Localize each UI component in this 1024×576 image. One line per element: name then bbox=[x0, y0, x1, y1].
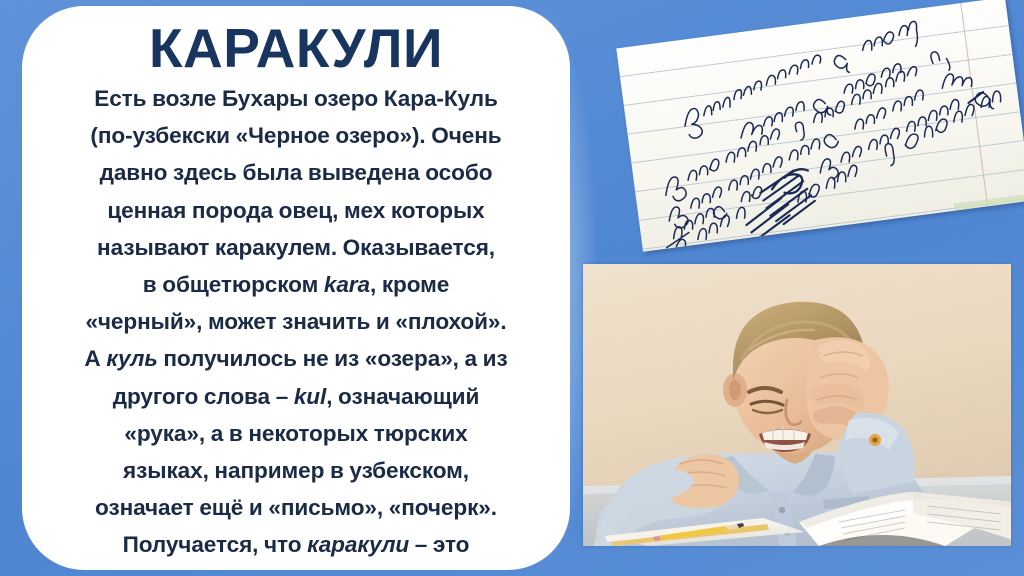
text-line: «черный», может значить и «плохой». bbox=[44, 303, 548, 340]
text-line: «рука», а в некоторых тюрских bbox=[44, 415, 548, 452]
article-text: Есть возле Бухары озеро Кара-Куль (по-уз… bbox=[36, 80, 556, 570]
italic-term-kul: kul bbox=[294, 384, 326, 409]
text-span: , кроме bbox=[370, 272, 449, 297]
text-span: языках, например в узбекском, bbox=[123, 458, 469, 483]
slide-root: КАРАКУЛИ Есть возле Бухары озеро Кара-Ку… bbox=[0, 0, 1024, 576]
text-span: означает ещё и «письмо», «почерк». bbox=[95, 495, 497, 520]
text-line: означает ещё и «письмо», «почерк». bbox=[44, 489, 548, 526]
note-handwriting-scrawl bbox=[616, 0, 1024, 252]
frustrated-boy-photo bbox=[583, 264, 1011, 546]
text-span: получилось не из «озера», а из bbox=[158, 346, 508, 371]
text-span: Получается, что bbox=[123, 532, 307, 557]
text-span: – это bbox=[409, 532, 469, 557]
text-span: называют каракулем. Оказывается, bbox=[97, 235, 495, 260]
text-span: , означающий bbox=[326, 384, 479, 409]
text-line: (по-узбекски «Черное озеро»). Очень bbox=[44, 117, 548, 154]
text-span: «рука», а в некоторых тюрских bbox=[124, 421, 467, 446]
text-line: ценная порода овец, мех которых bbox=[44, 192, 548, 229]
text-span: А bbox=[84, 346, 106, 371]
page-title: КАРАКУЛИ bbox=[36, 16, 556, 80]
italic-term-kara: kara bbox=[324, 272, 370, 297]
text-line: в общетюрском kara, кроме bbox=[44, 266, 548, 303]
text-span: Есть возле Бухары озеро Кара-Куль bbox=[94, 86, 497, 111]
italic-term-kul-ru: куль bbox=[106, 346, 157, 371]
text-line: другого слова – kul, означающий bbox=[44, 378, 548, 415]
text-line: «плохой почерк», «дурная рука». bbox=[44, 564, 548, 570]
text-span: другого слова – bbox=[113, 384, 294, 409]
text-line: А куль получилось не из «озера», а из bbox=[44, 340, 548, 377]
text-line: Получается, что каракули – это bbox=[44, 526, 548, 563]
text-line: языках, например в узбекском, bbox=[44, 452, 548, 489]
text-line: давно здесь была выведена особо bbox=[44, 154, 548, 191]
text-span: ценная порода овец, мех которых bbox=[107, 198, 484, 223]
text-span: (по-узбекски «Черное озеро»). Очень bbox=[90, 123, 501, 148]
text-span: в общетюрском bbox=[143, 272, 324, 297]
handwriting-note bbox=[616, 0, 1024, 252]
note-paper bbox=[616, 0, 1024, 252]
text-span: давно здесь была выведена особо bbox=[100, 160, 493, 185]
italic-term-karakuli: каракули bbox=[307, 532, 409, 557]
text-span: «черный», может значить и «плохой». bbox=[85, 309, 506, 334]
text-line: Есть возле Бухары озеро Кара-Куль bbox=[44, 80, 548, 117]
text-line: называют каракулем. Оказывается, bbox=[44, 229, 548, 266]
content-card: КАРАКУЛИ Есть возле Бухары озеро Кара-Ку… bbox=[22, 6, 570, 570]
